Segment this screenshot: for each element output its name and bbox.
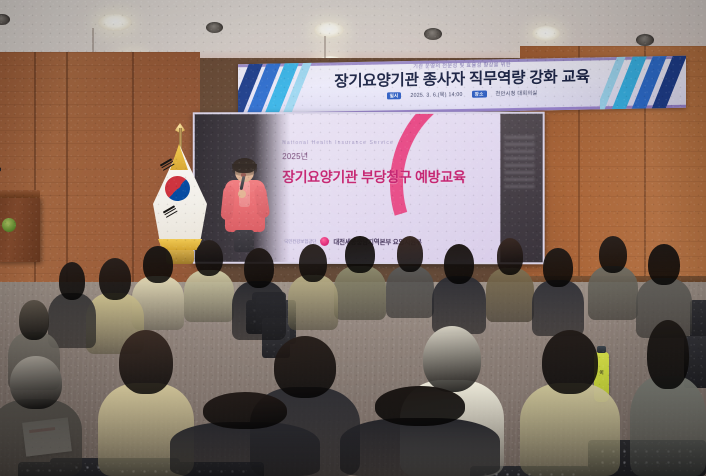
audience-member [340, 386, 500, 476]
audience-member [386, 236, 434, 318]
audience-head [19, 300, 48, 340]
audience-member [232, 248, 286, 340]
audience-member [486, 238, 534, 322]
audience-head [143, 246, 172, 283]
downlight-2 [314, 22, 344, 38]
audience-head [195, 240, 223, 276]
audience-member [520, 330, 620, 476]
audience-shoulders [340, 418, 500, 476]
audience-shoulders [232, 281, 286, 340]
banner-meta-chip-date: 일시 [387, 93, 402, 100]
audience-member [588, 236, 638, 320]
audience-head [59, 262, 86, 300]
podium-emblem-icon [2, 218, 16, 232]
banner-stripes-left [238, 56, 324, 117]
slide-text-block: National Health Insurance Service 2025년 … [282, 140, 522, 187]
audience-head [497, 238, 524, 275]
audience-member [630, 320, 706, 476]
audience-head [375, 386, 465, 426]
light-stem-1 [92, 28, 94, 52]
audience-shoulders [630, 376, 706, 476]
audience-head [543, 248, 572, 287]
presenter-hair [233, 158, 256, 173]
audience-head [542, 330, 598, 394]
slide-title: 장기요양기관 부당청구 예방교육 [282, 167, 522, 187]
audience-head [10, 356, 62, 409]
audience-head [397, 236, 424, 272]
slide-year: 2025년 [282, 151, 522, 162]
audience-head [444, 244, 474, 284]
audience-head [647, 320, 690, 389]
light-stem-2 [324, 36, 326, 58]
photo-scene: 기관 운영의 전문성 및 효율성 향상을 위한 장기요양기관 종사자 직무역량 … [0, 0, 706, 476]
audience-head [345, 236, 374, 273]
audience-member [334, 236, 386, 320]
audience-shoulders [334, 266, 386, 320]
audience-member [184, 240, 234, 322]
audience-member [532, 248, 584, 336]
korean-flag [148, 128, 212, 250]
audience-head [99, 258, 131, 300]
banner-meta-date: 2025. 3. 6.(목) 14:00 [410, 91, 462, 99]
ceiling-speaker-3 [424, 28, 442, 40]
audience-head [648, 244, 679, 285]
audience-member [432, 244, 486, 334]
audience-head [203, 392, 287, 429]
audience-member [288, 244, 338, 330]
audience-head [299, 244, 327, 282]
ceiling-speaker-2 [206, 22, 223, 33]
audience-head [599, 236, 627, 273]
audience-shoulders [288, 275, 338, 330]
downlight-1 [98, 14, 132, 31]
event-banner: 기관 운영의 전문성 및 효율성 향상을 위한 장기요양기관 종사자 직무역량 … [238, 56, 686, 117]
audience-head [119, 330, 173, 394]
audience-member [0, 356, 82, 476]
presenter-hand [238, 190, 246, 198]
banner-meta-venue: 천안시청 대회의실 [496, 90, 538, 98]
audience-shoulders [532, 280, 584, 336]
audience-shoulders [386, 266, 434, 318]
audience-head [423, 326, 481, 392]
slide-org-english: National Health Insurance Service [282, 140, 522, 146]
downlight-3 [532, 26, 560, 41]
audience-shoulders [184, 270, 234, 322]
banner-text-block: 기관 운영의 전문성 및 효율성 향상을 위한 장기요양기관 종사자 직무역량 … [326, 59, 598, 101]
audience-head [274, 336, 336, 398]
banner-stripes-right [600, 56, 686, 117]
banner-meta-chip-venue: 장소 [472, 91, 487, 98]
audience-shoulders [170, 422, 320, 476]
podium-top [0, 190, 40, 198]
banner-title: 장기요양기관 종사자 직무역량 강화 교육 [326, 70, 598, 91]
audience-shoulders [588, 266, 638, 320]
audience-shoulders [520, 383, 620, 476]
presenter [222, 160, 268, 252]
audience-shoulders [486, 268, 534, 322]
audience-shoulders [0, 399, 82, 476]
podium [0, 196, 40, 262]
ceiling-speaker-4 [636, 34, 654, 46]
audience-head [244, 248, 274, 288]
banner-meta: 일시 2025. 3. 6.(목) 14:00 장소 천안시청 대회의실 [326, 89, 598, 101]
audience-member [170, 392, 320, 476]
